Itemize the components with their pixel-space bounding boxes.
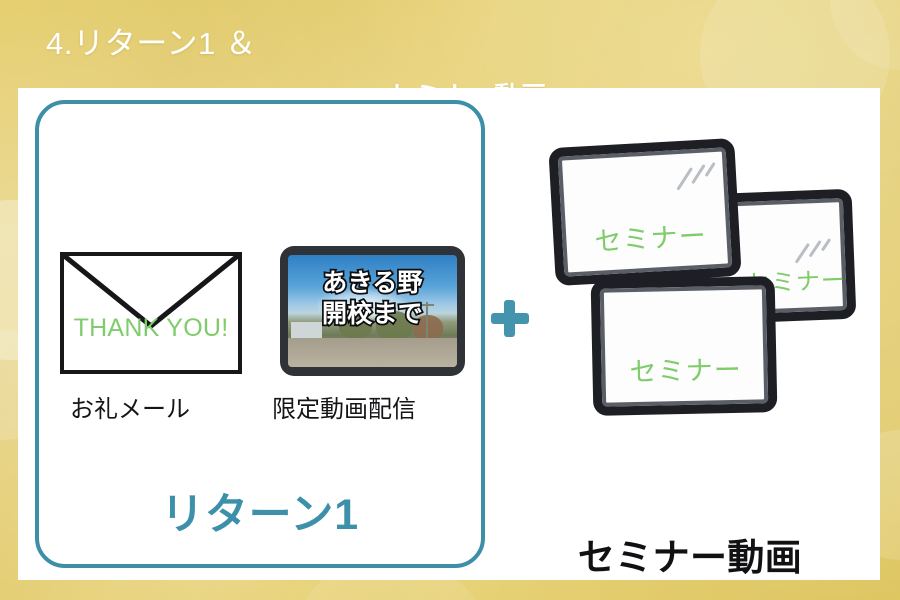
seminar-card-label: セミナー (629, 348, 742, 389)
seminar-card-stack: セミナー セミナー セミナー (530, 130, 870, 430)
card-gleam-icon (676, 167, 692, 190)
seminar-card-label: セミナー (593, 214, 707, 259)
tablet-screen-caption: あきる野 開校まで (288, 268, 457, 330)
page-title-left: 4.リターン1 ＆ (46, 22, 257, 66)
video-tablet-icon: あきる野 開校まで (280, 246, 465, 376)
caption-limited-video: 限定動画配信 (272, 389, 416, 424)
card-gleam-icon (795, 243, 810, 264)
tablet-caption-line1: あきる野 (288, 268, 457, 299)
card-gleam-icon (809, 240, 822, 257)
card-gleam-icon (705, 162, 716, 177)
photo-ground (288, 338, 457, 367)
pack-title-line1: セミナー動画 (505, 534, 875, 581)
return-label: リターン1 (35, 480, 485, 542)
seminar-card: セミナー (548, 138, 741, 286)
caption-thank-you-mail: お礼メール (70, 389, 190, 424)
card-gleam-icon (691, 164, 705, 184)
plus-bar-vertical (504, 300, 515, 337)
pack-title: セミナー動画 おまとめパック (505, 440, 875, 600)
envelope-icon: THANK YOU! (60, 252, 242, 374)
envelope-flap-icon (60, 252, 242, 374)
tablet-caption-line2: 開校まで (288, 299, 457, 330)
tablet-screen: あきる野 開校まで (288, 255, 457, 367)
envelope-thank-you-text: THANK YOU! (60, 314, 242, 343)
card-gleam-icon (821, 238, 831, 251)
slide-root: 4.リターン1 ＆ セミナー動画 おまとめパックプラン THANK YOU! お… (0, 0, 900, 600)
plus-icon (489, 297, 531, 339)
seminar-card: セミナー (591, 276, 778, 416)
bokeh-circle (830, 0, 900, 70)
